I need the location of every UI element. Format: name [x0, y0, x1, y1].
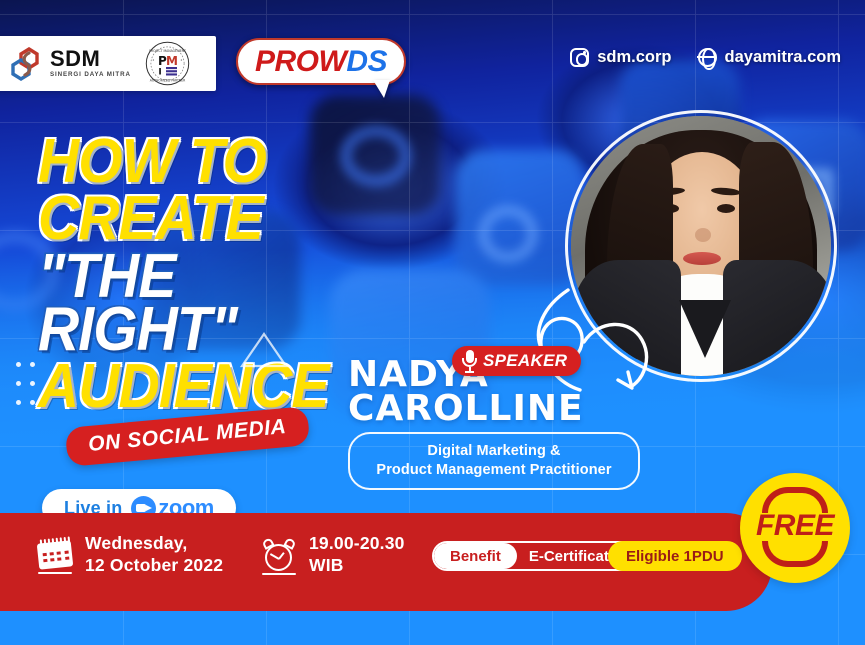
headline-line-4: AUDIENCE: [38, 360, 342, 413]
sdm-tagline: SINERGI DAYA MITRA: [50, 72, 131, 78]
event-date-text: Wednesday, 12 October 2022: [85, 533, 223, 577]
speaker-badge: SPEAKER: [452, 346, 581, 376]
sdm-brand-name: SDM: [50, 48, 131, 70]
event-date: Wednesday, 12 October 2022: [38, 533, 223, 577]
website-handle[interactable]: dayamitra.com: [698, 48, 841, 67]
event-time-line-2: WIB: [309, 555, 344, 575]
instagram-handle-text: sdm.corp: [597, 48, 671, 67]
benefit-label: Benefit: [434, 543, 517, 569]
speaker-photo: [565, 110, 837, 382]
pdu-badge: Eligible 1PDU: [608, 541, 742, 571]
event-time-line-1: 19.00-20.30: [309, 533, 405, 553]
brand-header-box: SDM SINERGI DAYA MITRA PROJECT MANAGEMEN…: [0, 36, 216, 91]
free-badge-label: FREE: [740, 509, 850, 543]
speaker-last-name: CAROLLINE: [348, 392, 648, 426]
website-handle-text: dayamitra.com: [725, 48, 841, 67]
prowds-program-logo: PROWDS: [236, 38, 406, 85]
svg-text:PROJECT MANAGEMENT: PROJECT MANAGEMENT: [149, 49, 186, 53]
headline-block: HOW TO CREATE "THE RIGHT" AUDIENCE: [38, 135, 368, 414]
webinar-poster: SDM SINERGI DAYA MITRA PROJECT MANAGEMEN…: [0, 0, 865, 645]
headline-line-2: CREATE: [38, 192, 342, 245]
headline-line-3: "THE RIGHT": [38, 250, 342, 357]
speaker-badge-label: SPEAKER: [483, 351, 567, 371]
instagram-icon: [570, 48, 589, 67]
speaker-title-line-2: Product Management Practitioner: [360, 461, 628, 480]
prowds-part-1: PROW: [255, 45, 346, 78]
svg-text:2: 2: [180, 58, 182, 62]
benefit-badge: Benefit E-Certificate: [432, 541, 635, 571]
event-date-line-1: Wednesday,: [85, 533, 188, 553]
sdm-logo-icon: [10, 47, 40, 81]
pmi-authorized-training-partner-seal: PROJECT MANAGEMENT AUTHORIZED PARTNER P …: [145, 41, 190, 86]
prowds-part-2: DS: [346, 45, 387, 78]
sdm-wordmark: SDM SINERGI DAYA MITRA: [50, 48, 131, 78]
triangle-outline-decoration: [238, 330, 282, 364]
event-time: 19.00-20.30 WIB: [262, 533, 405, 577]
dot-grid-decoration: [16, 362, 44, 419]
speaker-title-box: Digital Marketing & Product Management P…: [348, 432, 640, 490]
prowds-bubble-tail: [373, 80, 390, 98]
speaker-photo-ring: [565, 110, 837, 382]
prowds-wordmark: PROWDS: [255, 45, 387, 79]
headline-line-1: HOW TO: [38, 135, 342, 188]
speaker-block: NADYA CAROLLINE SPEAKER: [348, 358, 648, 426]
alarm-clock-icon: [262, 537, 296, 573]
globe-icon: [698, 48, 717, 67]
event-time-text: 19.00-20.30 WIB: [309, 533, 405, 577]
calendar-icon: [38, 537, 72, 573]
svg-text:I: I: [158, 68, 161, 78]
speaker-title-line-1: Digital Marketing &: [360, 442, 628, 461]
svg-text:M: M: [166, 54, 178, 68]
social-handles: sdm.corp dayamitra.com: [570, 48, 841, 67]
microphone-icon: [462, 350, 477, 373]
event-date-line-2: 12 October 2022: [85, 555, 223, 575]
svg-text:2: 2: [152, 58, 154, 62]
instagram-handle[interactable]: sdm.corp: [570, 48, 671, 67]
free-badge: FREE: [740, 473, 850, 583]
svg-text:AUTHORIZED PARTNER: AUTHORIZED PARTNER: [150, 78, 186, 82]
prowds-bubble: PROWDS: [236, 38, 406, 85]
